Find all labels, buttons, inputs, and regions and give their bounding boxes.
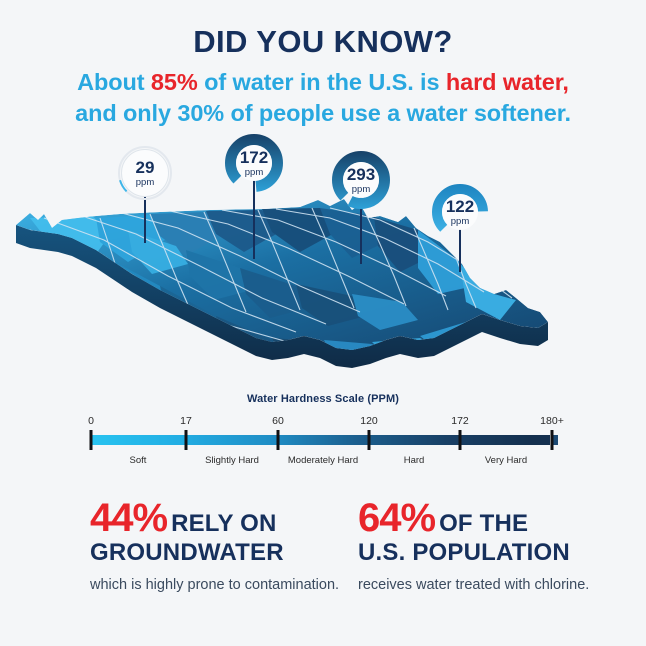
scale-tick-mark <box>368 430 371 450</box>
pin-value: 172 <box>240 149 268 166</box>
scale-tick-labels: 01760120172180+ <box>88 415 558 429</box>
scale-tick-mark <box>551 430 554 450</box>
pin-bubble: 172ppm <box>236 145 272 181</box>
scale-category-label: Moderately Hard <box>288 455 358 466</box>
infographic-root: DID YOU KNOW? About 85% of water in the … <box>0 0 646 646</box>
pin-value: 293 <box>347 166 375 183</box>
stat-chlorine: 64%OF THE U.S. POPULATION receives water… <box>358 498 628 595</box>
scale-tick-label: 180+ <box>540 415 564 427</box>
scale-tick-mark <box>459 430 462 450</box>
scale-tick-label: 17 <box>180 415 192 427</box>
stat-headline: 64%OF THE U.S. POPULATION <box>358 498 628 567</box>
map-pin-29-ppm[interactable]: 29ppm <box>118 146 172 200</box>
subtitle-hard-water: hard water, <box>446 69 569 95</box>
map-pin-172-ppm[interactable]: 172ppm <box>225 134 283 192</box>
scale-gradient-bar <box>91 435 550 445</box>
map-svg <box>0 190 646 395</box>
scale-tick-label: 172 <box>451 415 469 427</box>
subtitle-stat-85: 85% <box>151 69 198 95</box>
scale-tick-label: 0 <box>88 415 94 427</box>
pin-value: 29 <box>136 159 155 176</box>
stat-groundwater: 44%RELY ON GROUNDWATER which is highly p… <box>90 498 350 595</box>
stat-percent: 64% <box>358 496 435 540</box>
subtitle-line-1: About 85% of water in the U.S. is hard w… <box>0 67 646 98</box>
map-pin-293-ppm[interactable]: 293ppm <box>332 151 390 209</box>
scale-category-labels: SoftSlightly HardModerately HardHardVery… <box>88 455 558 471</box>
water-hardness-scale: 01760120172180+ SoftSlightly HardModerat… <box>88 415 558 475</box>
pin-unit: ppm <box>352 185 370 195</box>
scale-category-label: Very Hard <box>485 455 527 466</box>
scale-tick-label: 120 <box>360 415 378 427</box>
scale-category-label: Slightly Hard <box>205 455 259 466</box>
scale-tick-mark <box>277 430 280 450</box>
stat-head-1: RELY ON <box>171 510 276 537</box>
scale-title: Water Hardness Scale (PPM) <box>0 393 646 405</box>
subtitle-line-2: and only 30% of people use a water softe… <box>0 98 646 129</box>
scale-category-label: Soft <box>130 455 147 466</box>
pin-unit: ppm <box>245 168 263 178</box>
subtitle-text-a: About <box>77 69 151 95</box>
stat-headline: 44%RELY ON GROUNDWATER <box>90 498 350 567</box>
scale-tick-mark <box>185 430 188 450</box>
stat-percent: 44% <box>90 496 167 540</box>
map-pin-122-ppm[interactable]: 122ppm <box>432 184 488 240</box>
subtitle: About 85% of water in the U.S. is hard w… <box>0 67 646 129</box>
stat-description: receives water treated with chlorine. <box>358 576 628 596</box>
pin-bubble: 293ppm <box>343 162 379 198</box>
pin-value: 122 <box>446 198 474 215</box>
header: DID YOU KNOW? About 85% of water in the … <box>0 0 646 129</box>
stat-head-2: U.S. POPULATION <box>358 540 628 567</box>
pin-bubble: 122ppm <box>442 194 478 230</box>
pin-unit: ppm <box>136 178 154 188</box>
stat-description: which is highly prone to contamination. <box>90 576 350 596</box>
united-states-3d-map <box>0 190 646 395</box>
pin-bubble: 29ppm <box>121 149 169 197</box>
scale-category-label: Hard <box>404 455 425 466</box>
scale-tick-label: 60 <box>272 415 284 427</box>
pin-unit: ppm <box>451 217 469 227</box>
subtitle-text-b: of water in the U.S. is <box>198 69 446 95</box>
scale-tick-mark <box>90 430 93 450</box>
stats-row: 44%RELY ON GROUNDWATER which is highly p… <box>0 498 646 638</box>
stat-head-2: GROUNDWATER <box>90 540 350 567</box>
page-title: DID YOU KNOW? <box>0 26 646 57</box>
scale-bar-row <box>88 433 558 447</box>
stat-head-1: OF THE <box>439 510 528 537</box>
